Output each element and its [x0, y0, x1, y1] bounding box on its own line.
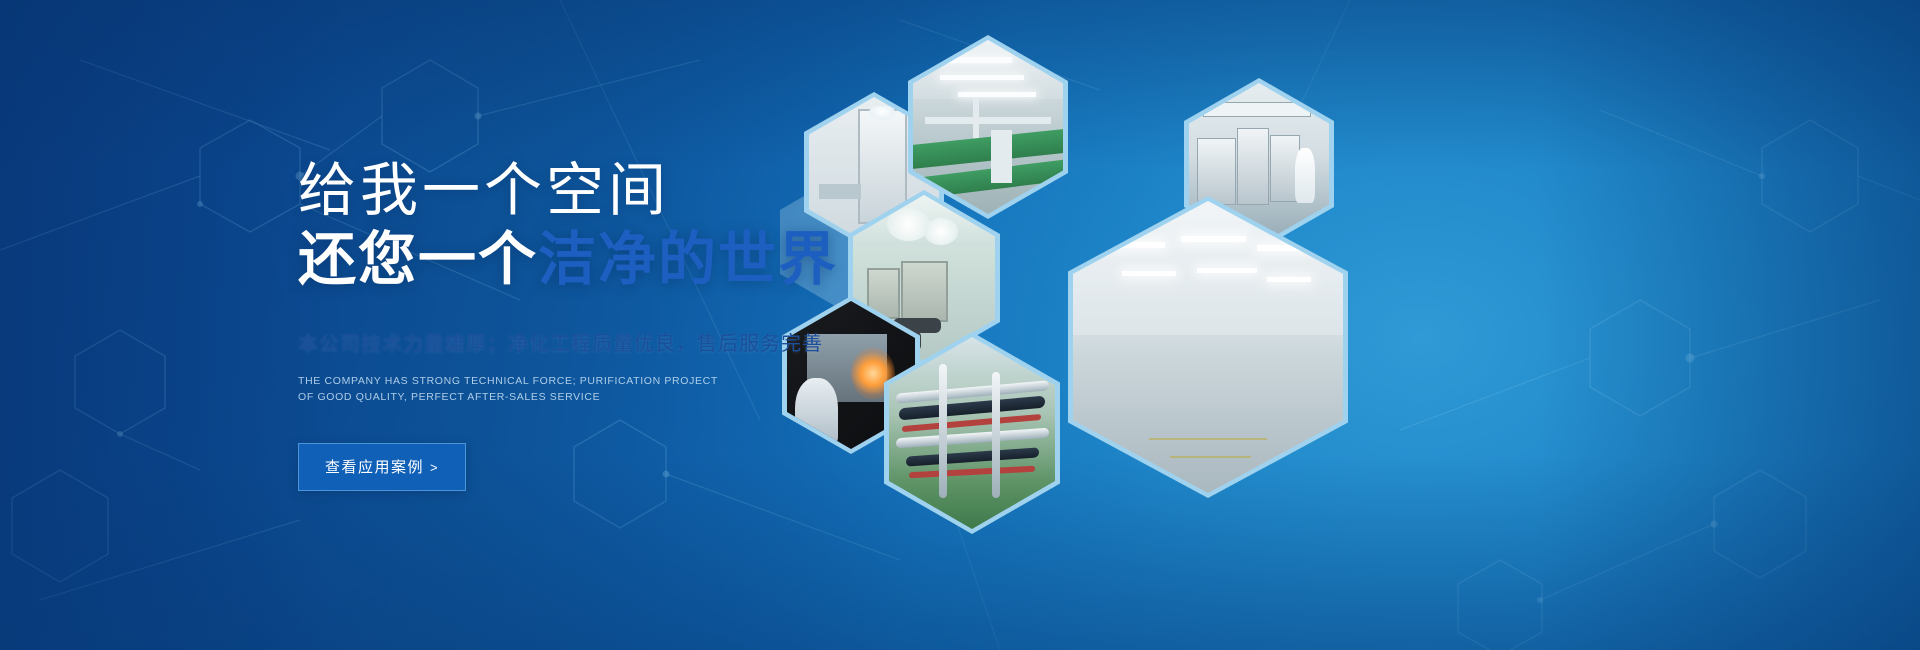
view-cases-button[interactable]: 查看应用案例> — [298, 443, 466, 491]
headline-line-1: 给我一个空间 — [298, 160, 998, 221]
headline-line-2-white: 还您一个 — [298, 227, 538, 292]
hexagon-large-cleanroom-hall[interactable] — [1068, 196, 1348, 498]
subtitle-english-line-2: OF GOOD QUALITY, PERFECT AFTER-SALES SER… — [298, 389, 998, 405]
view-cases-button-label: 查看应用案例 — [325, 459, 424, 476]
headline-line-2-blue: 洁净的世界 — [538, 227, 838, 292]
subtitle-english: THE COMPANY HAS STRONG TECHNICAL FORCE; … — [298, 373, 998, 406]
hero-banner: 给我一个空间 还您一个洁净的世界 本公司技术力量雄厚；净化工程质量优良，售后服务… — [0, 0, 1920, 650]
tagline: 本公司技术力量雄厚；净化工程质量优良，售后服务完善 — [298, 327, 998, 356]
hero-copy: 给我一个空间 还您一个洁净的世界 本公司技术力量雄厚；净化工程质量优良，售后服务… — [298, 160, 998, 491]
chevron-right-icon: > — [430, 460, 439, 475]
headline-line-2: 还您一个洁净的世界 — [298, 229, 998, 290]
subtitle-english-line-1: THE COMPANY HAS STRONG TECHNICAL FORCE; … — [298, 373, 998, 389]
